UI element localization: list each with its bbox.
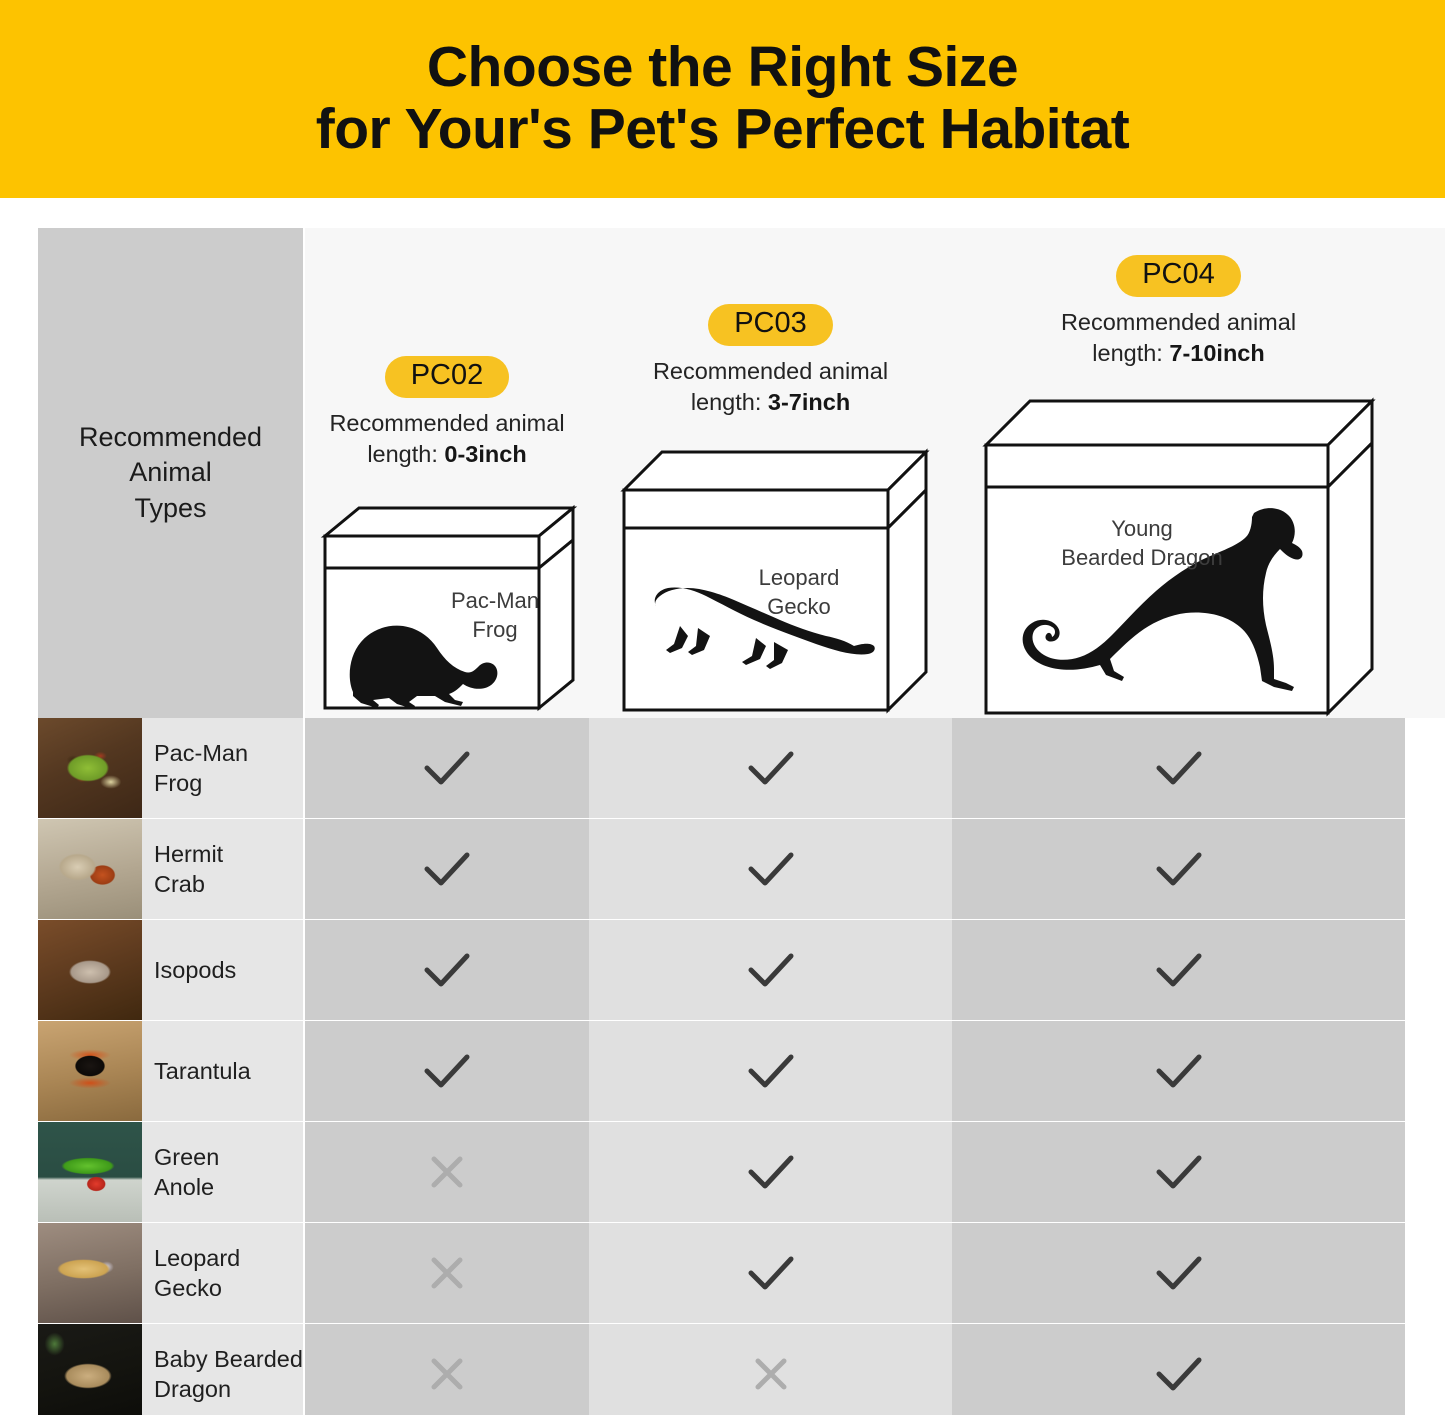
cell-pc02[interactable] bbox=[305, 1324, 589, 1415]
cross-icon bbox=[425, 1251, 469, 1295]
tarantula-photo bbox=[38, 1021, 142, 1121]
tank-pc02-label-line-1: Pac-Man bbox=[435, 587, 555, 616]
row-thumbnail bbox=[38, 819, 142, 919]
tank-pc04: Young Bearded Dragon bbox=[974, 387, 1405, 727]
row-name-cell: LeopardGecko bbox=[142, 1223, 303, 1323]
badge-pc02[interactable]: PC02 bbox=[385, 356, 510, 398]
pc02-rec-value: 0-3inch bbox=[444, 441, 526, 467]
check-icon bbox=[1151, 746, 1207, 790]
row-name-cell: Tarantula bbox=[142, 1021, 303, 1121]
check-icon bbox=[1151, 1251, 1207, 1295]
check-icon bbox=[1151, 1049, 1207, 1093]
size-column-pc04: PC04 Recommended animal length: 7-10inch bbox=[952, 228, 1405, 718]
pc03-rec-value: 3-7inch bbox=[768, 389, 850, 415]
cell-pc02[interactable] bbox=[305, 920, 589, 1020]
header-label-line-1: Recommended bbox=[79, 420, 262, 456]
tank-pc03-label-line-1: Leopard bbox=[734, 564, 864, 593]
size-column-pc02: PC02 Recommended animal length: 0-3inch bbox=[305, 228, 589, 718]
tank-pc03-label: Leopard Gecko bbox=[734, 564, 864, 621]
check-icon bbox=[743, 847, 799, 891]
row-thumbnail bbox=[38, 718, 142, 818]
size-column-pc03: PC03 Recommended animal length: 3-7inch bbox=[589, 228, 952, 718]
cross-icon bbox=[425, 1150, 469, 1194]
cell-pc02[interactable] bbox=[305, 819, 589, 919]
row-thumbnail bbox=[38, 1021, 142, 1121]
row-label: Pac-ManFrog bbox=[154, 738, 248, 798]
page-banner: Choose the Right Size for Your's Pet's P… bbox=[0, 0, 1445, 198]
cell-pc03[interactable] bbox=[589, 819, 952, 919]
pac-man-frog-photo bbox=[38, 718, 142, 818]
check-icon bbox=[419, 746, 475, 790]
tank-pc04-label: Young Bearded Dragon bbox=[1042, 515, 1242, 572]
cell-pc04[interactable] bbox=[952, 1021, 1405, 1121]
row-thumbnail bbox=[38, 920, 142, 1020]
check-icon bbox=[1151, 1352, 1207, 1396]
green-anole-photo bbox=[38, 1122, 142, 1222]
header-label-line-2: Animal bbox=[79, 455, 262, 491]
check-icon bbox=[743, 1150, 799, 1194]
pc03-rec-prefix: length: bbox=[691, 389, 768, 415]
tank-pc04-label-line-1: Young bbox=[1042, 515, 1242, 544]
cell-pc04[interactable] bbox=[952, 920, 1405, 1020]
check-icon bbox=[1151, 1150, 1207, 1194]
check-icon bbox=[419, 1049, 475, 1093]
badge-pc02-wrap: PC02 bbox=[305, 356, 589, 398]
row-name-cell: Isopods bbox=[142, 920, 303, 1020]
table-row: Tarantula bbox=[0, 1021, 1445, 1121]
table-row: GreenAnole bbox=[0, 1122, 1445, 1222]
table-row: Pac-ManFrog bbox=[0, 718, 1445, 818]
cell-pc02[interactable] bbox=[305, 1021, 589, 1121]
row-name-cell: HermitCrab bbox=[142, 819, 303, 919]
tank-pc03-label-line-2: Gecko bbox=[734, 593, 864, 622]
comparison-sheet: Recommended Animal Types PC02 Recommende… bbox=[0, 198, 1445, 1415]
row-thumbnail bbox=[38, 1324, 142, 1415]
header-label-line-3: Types bbox=[79, 491, 262, 527]
badge-pc04-wrap: PC04 bbox=[952, 255, 1405, 297]
badge-pc03[interactable]: PC03 bbox=[708, 304, 833, 346]
check-icon bbox=[743, 1049, 799, 1093]
leopard-gecko-photo bbox=[38, 1223, 142, 1323]
pc04-rec-value: 7-10inch bbox=[1169, 340, 1264, 366]
cell-pc02[interactable] bbox=[305, 1122, 589, 1222]
pc02-recommendation: Recommended animal length: 0-3inch bbox=[305, 408, 589, 470]
cell-pc03[interactable] bbox=[589, 1324, 952, 1415]
pc02-rec-line-1: Recommended animal bbox=[305, 408, 589, 439]
pc03-recommendation: Recommended animal length: 3-7inch bbox=[589, 356, 952, 418]
cross-icon bbox=[749, 1352, 793, 1396]
pc04-recommendation: Recommended animal length: 7-10inch bbox=[952, 307, 1405, 369]
row-label: LeopardGecko bbox=[154, 1243, 240, 1303]
table-row: Baby BeardedDragon bbox=[0, 1324, 1445, 1415]
badge-pc03-wrap: PC03 bbox=[589, 304, 952, 346]
check-icon bbox=[1151, 847, 1207, 891]
row-name-cell: GreenAnole bbox=[142, 1122, 303, 1222]
table-row: HermitCrab bbox=[0, 819, 1445, 919]
badge-pc04[interactable]: PC04 bbox=[1116, 255, 1241, 297]
cell-pc03[interactable] bbox=[589, 718, 952, 818]
pc03-rec-line-1: Recommended animal bbox=[589, 356, 952, 387]
check-icon bbox=[419, 847, 475, 891]
header-row: Recommended Animal Types PC02 Recommende… bbox=[0, 228, 1445, 718]
table-row: LeopardGecko bbox=[0, 1223, 1445, 1323]
pc04-rec-prefix: length: bbox=[1092, 340, 1169, 366]
cell-pc03[interactable] bbox=[589, 1223, 952, 1323]
cell-pc02[interactable] bbox=[305, 718, 589, 818]
row-thumbnail bbox=[38, 1223, 142, 1323]
cell-pc04[interactable] bbox=[952, 718, 1405, 818]
cell-pc04[interactable] bbox=[952, 1122, 1405, 1222]
tank-pc03: Leopard Gecko bbox=[614, 438, 952, 720]
cell-pc04[interactable] bbox=[952, 1223, 1405, 1323]
tank-pc02: Pac-Man Frog bbox=[317, 492, 589, 717]
baby-bearded-dragon-photo bbox=[38, 1324, 142, 1415]
check-icon bbox=[743, 948, 799, 992]
cell-pc03[interactable] bbox=[589, 1122, 952, 1222]
cell-pc04[interactable] bbox=[952, 1324, 1405, 1415]
check-icon bbox=[1151, 948, 1207, 992]
pc02-rec-prefix: length: bbox=[367, 441, 444, 467]
cell-pc03[interactable] bbox=[589, 920, 952, 1020]
check-icon bbox=[743, 746, 799, 790]
tank-pc02-label-line-2: Frog bbox=[435, 616, 555, 645]
row-label: HermitCrab bbox=[154, 839, 223, 899]
pc04-rec-line-1: Recommended animal bbox=[952, 307, 1405, 338]
hermit-crab-photo bbox=[38, 819, 142, 919]
row-name-cell: Pac-ManFrog bbox=[142, 718, 303, 818]
row-thumbnail bbox=[38, 1122, 142, 1222]
comparison-table-body: Pac-ManFrogHermitCrabIsopodsTarantulaGre… bbox=[0, 718, 1445, 1415]
check-icon bbox=[743, 1251, 799, 1295]
banner-title-line-1: Choose the Right Size bbox=[427, 37, 1018, 99]
row-label: GreenAnole bbox=[154, 1142, 219, 1202]
tank-pc02-label: Pac-Man Frog bbox=[435, 587, 555, 644]
tank-pc04-label-line-2: Bearded Dragon bbox=[1042, 544, 1242, 573]
row-label: Baby BeardedDragon bbox=[154, 1344, 303, 1404]
banner-title-line-2: for Your's Pet's Perfect Habitat bbox=[316, 99, 1130, 161]
cell-pc04[interactable] bbox=[952, 819, 1405, 919]
recommended-animal-types-header: Recommended Animal Types bbox=[38, 228, 303, 718]
cross-icon bbox=[425, 1352, 469, 1396]
row-name-cell: Baby BeardedDragon bbox=[142, 1324, 303, 1415]
check-icon bbox=[419, 948, 475, 992]
cell-pc02[interactable] bbox=[305, 1223, 589, 1323]
table-row: Isopods bbox=[0, 920, 1445, 1020]
isopods-photo bbox=[38, 920, 142, 1020]
row-label: Isopods bbox=[154, 955, 236, 985]
row-label: Tarantula bbox=[154, 1056, 251, 1086]
cell-pc03[interactable] bbox=[589, 1021, 952, 1121]
